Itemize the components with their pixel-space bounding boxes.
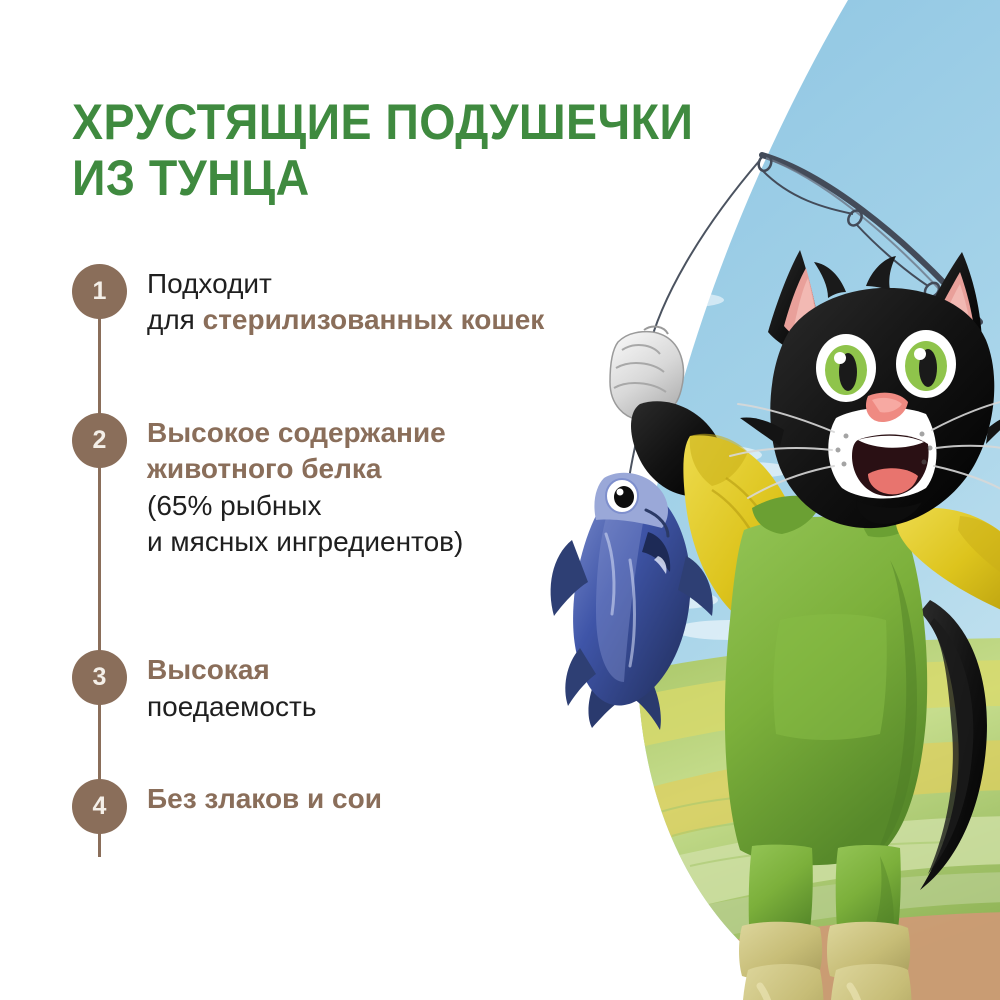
- fishing-line: [628, 160, 760, 486]
- feature-number-badge: 3: [72, 650, 127, 705]
- feature-text: Без злаков и сои: [147, 777, 382, 817]
- glove-left: [610, 327, 683, 420]
- cat-character: [730, 250, 1000, 528]
- green-overalls: [725, 496, 927, 865]
- feature-text: Высокое содержание животного белка (65% …: [147, 411, 592, 561]
- list-item: 3 Высокая поедаемость: [72, 648, 592, 725]
- shirt-sleeve-right: [896, 508, 1000, 612]
- feature-number-badge: 2: [72, 413, 127, 468]
- feature-text: Подходит для стерилизованных кошек: [147, 262, 544, 339]
- shirt-sleeve-left: [683, 434, 805, 630]
- promo-banner: ХРУСТЯЩИЕ ПОДУШЕЧКИ ИЗ ТУНЦА 1 Подходит …: [0, 0, 1000, 1000]
- list-item: 2 Высокое содержание животного белка (65…: [72, 411, 592, 561]
- feature-number-badge: 4: [72, 779, 127, 834]
- cat-arm-left: [631, 401, 724, 496]
- grass-field: [600, 638, 1000, 1000]
- fishing-rod: [757, 153, 980, 322]
- cat-tail: [920, 600, 987, 890]
- list-item: 4 Без злаков и сои: [72, 777, 592, 834]
- feature-plain-suffix: (65% рыбных и мясных ингредиентов): [147, 490, 463, 557]
- list-item: 1 Подходит для стерилизованных кошек: [72, 262, 592, 339]
- feature-connector-rail: [98, 292, 101, 857]
- feature-highlight: Высокое содержание животного белка: [147, 417, 446, 484]
- overalls-legs: [749, 845, 901, 950]
- feature-plain-suffix: поедаемость: [147, 691, 316, 722]
- feature-highlight: Без злаков и сои: [147, 783, 382, 814]
- feature-list: 1 Подходит для стерилизованных кошек 2 В…: [72, 262, 592, 834]
- feature-number-badge: 1: [72, 264, 127, 319]
- feature-text: Высокая поедаемость: [147, 648, 316, 725]
- tan-rubber-boots: [738, 922, 914, 1000]
- feature-highlight: стерилизованных кошек: [203, 304, 545, 335]
- feature-highlight: Высокая: [147, 654, 270, 685]
- page-title: ХРУСТЯЩИЕ ПОДУШЕЧКИ ИЗ ТУНЦА: [72, 94, 742, 206]
- cloud-wisps: [638, 293, 793, 640]
